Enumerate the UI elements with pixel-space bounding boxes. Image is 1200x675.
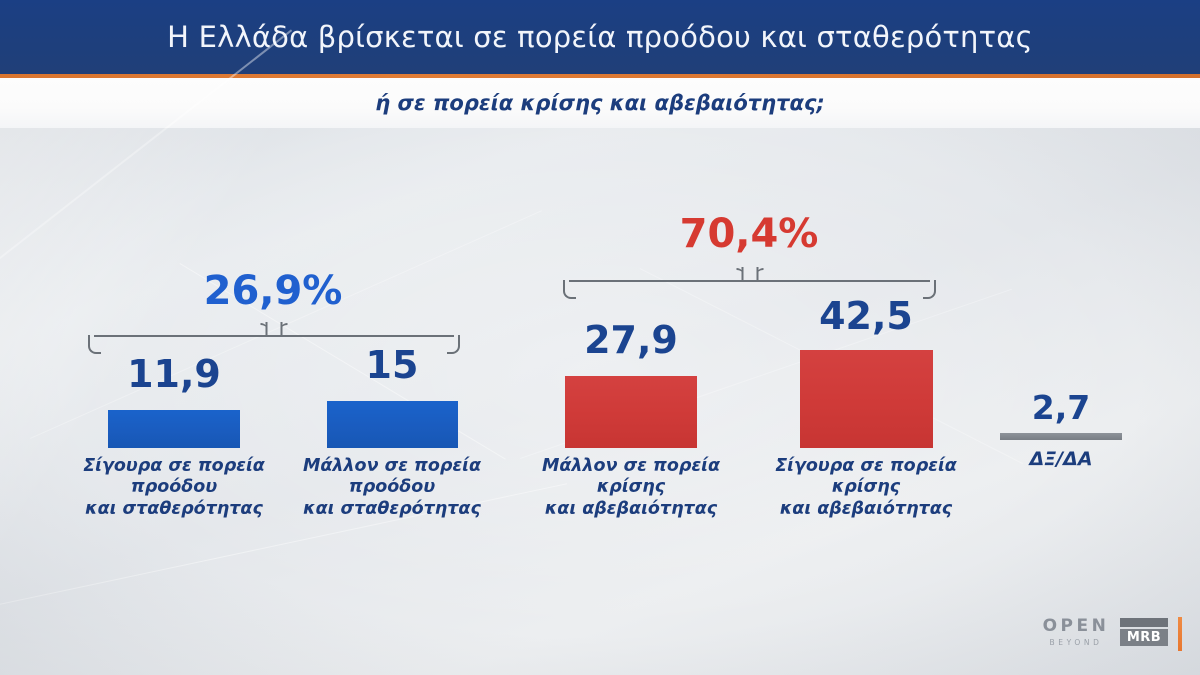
bar-group-mallon-proodou: 15	[301, 343, 483, 448]
bar-label-sigoura-proodou: Σίγουρα σε πορεία προόδου και σταθερότητ…	[73, 456, 275, 520]
mrb-logo-text: MRB	[1120, 629, 1168, 646]
bar-mallon-krisis	[565, 376, 697, 448]
bar-mallon-proodou	[327, 401, 458, 448]
bracket-cap-left	[563, 280, 576, 299]
bar-label-sigoura-krisis: Σίγουρα σε πορεία κρίσης και αβεβαιότητα…	[765, 456, 967, 520]
mrb-logo: MRB	[1120, 618, 1168, 646]
bar-label-dk-na: ΔΞ/ΔΑ	[1000, 448, 1122, 470]
bracket-tick	[266, 322, 283, 335]
bracket-tick	[741, 267, 758, 280]
mrb-logo-bar	[1120, 618, 1168, 627]
group-total-crisis: 70,4%	[624, 211, 874, 257]
bracket-line	[569, 280, 930, 282]
bar-group-mallon-krisis: 27,9	[540, 318, 722, 448]
bar-sigoura-proodou	[108, 410, 240, 448]
bar-group-sigoura-proodou: 11,9	[83, 352, 265, 448]
page-title: Η Ελλάδα βρίσκεται σε πορεία προόδου και…	[0, 0, 1200, 74]
bar-label-mallon-proodou: Μάλλον σε πορεία προόδου και σταθερότητα…	[291, 456, 493, 520]
bar-value-mallon-krisis: 27,9	[540, 318, 722, 362]
bar-value-sigoura-proodou: 11,9	[83, 352, 265, 396]
bar-dk-na	[1000, 433, 1122, 440]
bracket-line	[94, 335, 454, 337]
group-total-progress: 26,9%	[148, 268, 398, 314]
bar-group-sigoura-krisis: 42,5	[775, 294, 957, 448]
chart-canvas: Η Ελλάδα βρίσκεται σε πορεία προόδου και…	[0, 0, 1200, 675]
open-beyond-logo: OPEN BEYOND	[1036, 618, 1116, 647]
bar-group-dk-na: 2,7 ΔΞ/ΔΑ	[1000, 388, 1122, 488]
open-logo-text: OPEN	[1036, 618, 1116, 635]
page-subtitle: ή σε πορεία κρίσης και αβεβαιότητας;	[0, 78, 1200, 128]
bar-label-mallon-krisis: Μάλλον σε πορεία κρίσης και αβεβαιότητας	[530, 456, 732, 520]
beyond-logo-text: BEYOND	[1036, 639, 1116, 647]
bar-value-mallon-proodou: 15	[301, 343, 483, 387]
bar-value-dk-na: 2,7	[1000, 388, 1122, 427]
accent-bar-icon	[1178, 617, 1182, 651]
bar-value-sigoura-krisis: 42,5	[775, 294, 957, 338]
bar-sigoura-krisis	[800, 350, 933, 448]
